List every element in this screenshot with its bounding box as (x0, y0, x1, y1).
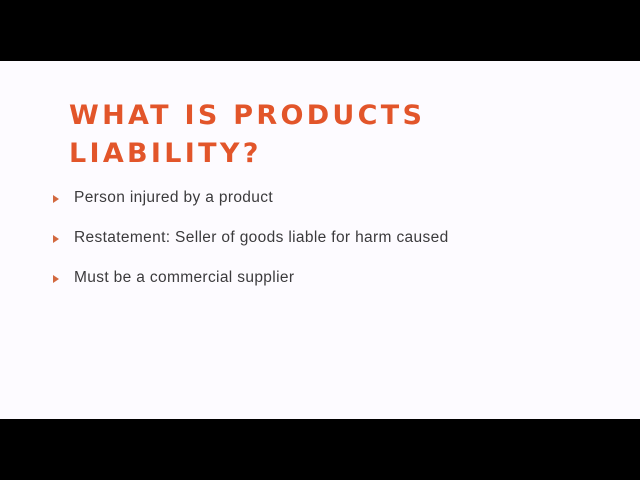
letterbox-bottom-bar (0, 419, 640, 480)
triangle-right-icon (53, 275, 59, 283)
list-item: Must be a commercial supplier (50, 267, 610, 289)
letterbox-top-bar (0, 0, 640, 61)
slide-bullet-list: Person injured by a product Restatement:… (50, 187, 610, 289)
triangle-right-icon (53, 235, 59, 243)
slide-title: What is Products Liability? (69, 97, 589, 173)
list-item-label: Restatement: Seller of goods liable for … (74, 229, 449, 246)
video-player-frame: What is Products Liability? Person injur… (0, 0, 640, 480)
triangle-right-icon (53, 195, 59, 203)
presentation-slide: What is Products Liability? Person injur… (0, 61, 640, 419)
list-item-label: Person injured by a product (74, 189, 273, 206)
list-item: Restatement: Seller of goods liable for … (50, 227, 610, 249)
list-item: Person injured by a product (50, 187, 610, 209)
list-item-label: Must be a commercial supplier (74, 269, 294, 286)
